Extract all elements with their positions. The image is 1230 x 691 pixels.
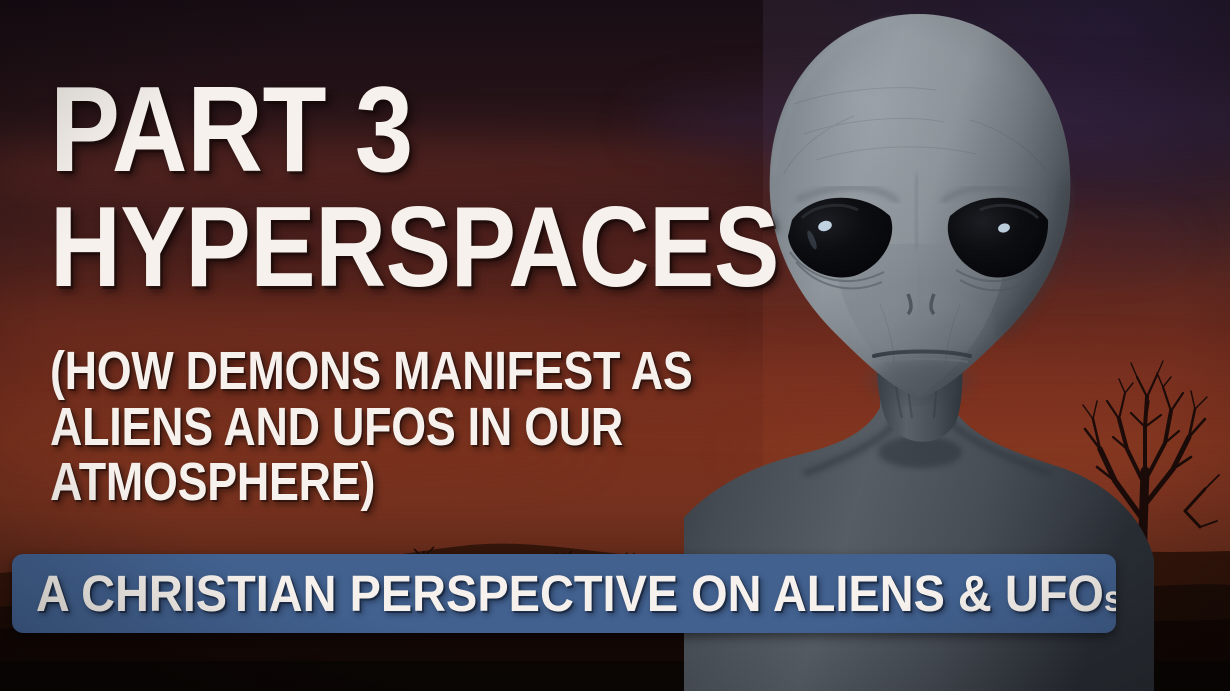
subtitle-line-1: (HOW DEMONS MANIFEST AS bbox=[50, 344, 714, 400]
headline-block: PART 3 HYPERSPACES bbox=[50, 72, 840, 314]
subtitle-line-3: ATMOSPHERE) bbox=[50, 455, 714, 511]
banner-text: A CHRISTIAN PERSPECTIVE ON ALIENS & UFOs bbox=[12, 564, 1116, 623]
banner-text-suffix: s bbox=[1104, 578, 1116, 619]
series-banner: A CHRISTIAN PERSPECTIVE ON ALIENS & UFOs bbox=[12, 554, 1116, 633]
part-label: PART 3 bbox=[50, 72, 729, 188]
banner-text-main: A CHRISTIAN PERSPECTIVE ON ALIENS & UFO bbox=[36, 565, 1104, 622]
subtitle-block: (HOW DEMONS MANIFEST AS ALIENS AND UFOS … bbox=[50, 344, 850, 511]
text-overlay: PART 3 HYPERSPACES (HOW DEMONS MANIFEST … bbox=[0, 0, 1230, 691]
topic-title: HYPERSPACES bbox=[50, 194, 729, 302]
youtube-thumbnail: PART 3 HYPERSPACES (HOW DEMONS MANIFEST … bbox=[0, 0, 1230, 691]
subtitle-line-2: ALIENS AND UFOS IN OUR bbox=[50, 400, 714, 456]
